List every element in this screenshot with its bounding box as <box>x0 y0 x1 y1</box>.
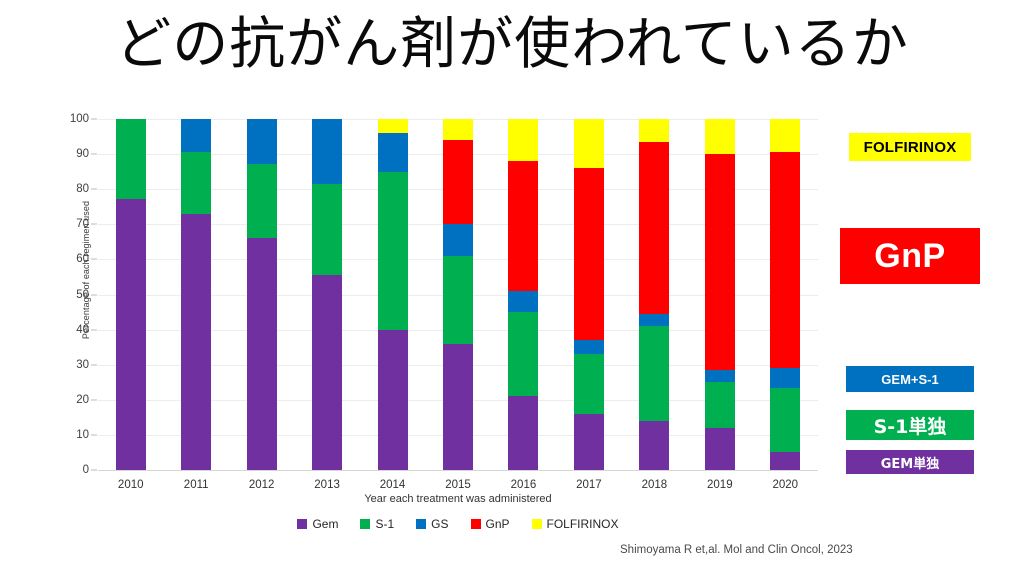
y-axis-tick-label: 50 <box>76 289 89 301</box>
y-axis-tickmark <box>91 189 97 190</box>
bar-segment-gs-2020 <box>770 368 800 387</box>
legend-item-folfirinox[interactable]: FOLFIRINOX <box>532 517 619 531</box>
page-title: どの抗がん剤が使われているか <box>0 14 1024 76</box>
bar-segment-s-1-2015 <box>443 256 473 344</box>
bar-segment-gem-2012 <box>247 238 277 470</box>
y-axis-tick-label: 0 <box>83 464 89 476</box>
bar-segment-gem-2018 <box>639 421 669 470</box>
chart-figure: Percentage of each regimen used 01020304… <box>40 105 840 545</box>
citation-text: Shimoyama R et,al. Mol and Clin Oncol, 2… <box>620 544 940 556</box>
bar-2011 <box>181 119 211 470</box>
y-axis-tick-label: 70 <box>76 218 89 230</box>
y-axis-tickmark <box>91 154 97 155</box>
bar-segment-gem-2019 <box>705 428 735 470</box>
bar-2017 <box>574 119 604 470</box>
legend-label: GnP <box>486 517 510 531</box>
x-axis-tick-label-2015: 2015 <box>445 479 471 491</box>
bar-segment-gnp-2017 <box>574 168 604 340</box>
bar-segment-s-1-2020 <box>770 388 800 453</box>
bar-2010 <box>116 119 146 470</box>
x-axis-tick-label-2016: 2016 <box>511 479 537 491</box>
bar-segment-s-1-2012 <box>247 164 277 239</box>
bar-2018 <box>639 119 669 470</box>
y-axis-tick-label: 20 <box>76 394 89 406</box>
bar-segment-s-1-2019 <box>705 382 735 428</box>
bar-segment-gs-2013 <box>312 119 342 184</box>
bar-segment-gem-2010 <box>116 199 146 470</box>
bar-segment-s-1-2018 <box>639 326 669 421</box>
legend-swatch-icon <box>471 519 481 529</box>
callout-legend-folfirinox: FOLFIRINOX <box>849 133 971 161</box>
bar-segment-gem-2015 <box>443 344 473 470</box>
bar-2020 <box>770 119 800 470</box>
y-axis-tick-label: 40 <box>76 324 89 336</box>
legend-item-gs[interactable]: GS <box>416 517 448 531</box>
x-axis-tick-label-2012: 2012 <box>249 479 275 491</box>
y-axis-tick-label: 80 <box>76 183 89 195</box>
bar-segment-s-1-2013 <box>312 184 342 275</box>
bar-segment-gem-2017 <box>574 414 604 470</box>
y-axis-tickmark <box>91 329 97 330</box>
legend-swatch-icon <box>297 519 307 529</box>
bar-segment-folfirinox-2019 <box>705 119 735 154</box>
bar-segment-s-1-2017 <box>574 354 604 414</box>
callout-legend-gem: GEM単独 <box>846 450 974 474</box>
chart-legend: GemS-1GSGnPFOLFIRINOX <box>98 517 818 531</box>
y-axis-tickmark <box>91 294 97 295</box>
x-axis-tick-label-2019: 2019 <box>707 479 733 491</box>
bar-segment-s-1-2014 <box>378 172 408 330</box>
slide-canvas: どの抗がん剤が使われているか Percentage of each regime… <box>0 0 1024 576</box>
legend-swatch-icon <box>416 519 426 529</box>
legend-item-s-1[interactable]: S-1 <box>360 517 394 531</box>
bar-2015 <box>443 119 473 470</box>
x-axis-label: Year each treatment was administered <box>98 493 818 505</box>
y-axis-tickmark <box>91 399 97 400</box>
bar-segment-gnp-2015 <box>443 140 473 224</box>
bar-segment-gnp-2020 <box>770 152 800 368</box>
x-axis-tick-label-2020: 2020 <box>772 479 798 491</box>
y-axis-tick-label: 10 <box>76 429 89 441</box>
callout-legend-gnp: GnP <box>840 228 980 284</box>
bar-segment-gem-2014 <box>378 330 408 470</box>
x-axis-tick-label-2017: 2017 <box>576 479 602 491</box>
y-axis-tickmark <box>91 364 97 365</box>
legend-label: Gem <box>312 517 338 531</box>
bar-segment-gs-2019 <box>705 370 735 382</box>
bar-segment-gs-2016 <box>508 291 538 312</box>
legend-label: FOLFIRINOX <box>547 517 619 531</box>
y-axis-tick-label: 90 <box>76 148 89 160</box>
bar-segment-gnp-2019 <box>705 154 735 370</box>
bar-2013 <box>312 119 342 470</box>
y-axis-tick-label: 100 <box>70 113 89 125</box>
gridline <box>98 470 818 471</box>
y-axis-tickmark <box>91 119 97 120</box>
bar-segment-gs-2018 <box>639 314 669 326</box>
bar-segment-gs-2017 <box>574 340 604 354</box>
y-axis-tickmark <box>91 470 97 471</box>
callout-legend-s1: S-1単独 <box>846 410 974 440</box>
y-axis-tickmark <box>91 259 97 260</box>
y-axis-tickmark <box>91 434 97 435</box>
bar-segment-folfirinox-2015 <box>443 119 473 140</box>
bar-segment-gem-2020 <box>770 452 800 470</box>
callout-legend-gems1: GEM+S-1 <box>846 366 974 392</box>
bar-segment-gs-2011 <box>181 119 211 152</box>
bar-segment-s-1-2016 <box>508 312 538 396</box>
bar-segment-gnp-2016 <box>508 161 538 291</box>
bar-segment-gs-2015 <box>443 224 473 256</box>
bar-2016 <box>508 119 538 470</box>
x-axis-tick-label-2010: 2010 <box>118 479 144 491</box>
bar-segment-s-1-2010 <box>116 119 146 199</box>
bar-segment-gem-2013 <box>312 275 342 470</box>
x-axis-tick-label-2014: 2014 <box>380 479 406 491</box>
bar-segment-folfirinox-2016 <box>508 119 538 161</box>
bar-segment-folfirinox-2014 <box>378 119 408 133</box>
legend-swatch-icon <box>360 519 370 529</box>
legend-label: GS <box>431 517 448 531</box>
bar-segment-folfirinox-2020 <box>770 119 800 152</box>
bar-2012 <box>247 119 277 470</box>
bar-segment-s-1-2011 <box>181 152 211 214</box>
bar-segment-gs-2014 <box>378 133 408 172</box>
bar-2019 <box>705 119 735 470</box>
bar-segment-folfirinox-2018 <box>639 119 669 142</box>
legend-item-gnp[interactable]: GnP <box>471 517 510 531</box>
bar-segment-gem-2011 <box>181 214 211 470</box>
bar-segment-folfirinox-2017 <box>574 119 604 168</box>
x-axis-tick-label-2013: 2013 <box>314 479 340 491</box>
legend-swatch-icon <box>532 519 542 529</box>
bar-segment-gnp-2018 <box>639 142 669 314</box>
bar-segment-gem-2016 <box>508 396 538 470</box>
legend-label: S-1 <box>375 517 394 531</box>
y-axis-tick-label: 60 <box>76 253 89 265</box>
bar-segment-gs-2012 <box>247 119 277 164</box>
x-axis-tick-label-2011: 2011 <box>184 479 209 491</box>
bar-2014 <box>378 119 408 470</box>
y-axis-tickmark <box>91 224 97 225</box>
x-axis-tick-label-2018: 2018 <box>642 479 668 491</box>
y-axis-tick-label: 30 <box>76 359 89 371</box>
legend-item-gem[interactable]: Gem <box>297 517 338 531</box>
plot-area: 0102030405060708090100201020112012201320… <box>98 119 818 470</box>
